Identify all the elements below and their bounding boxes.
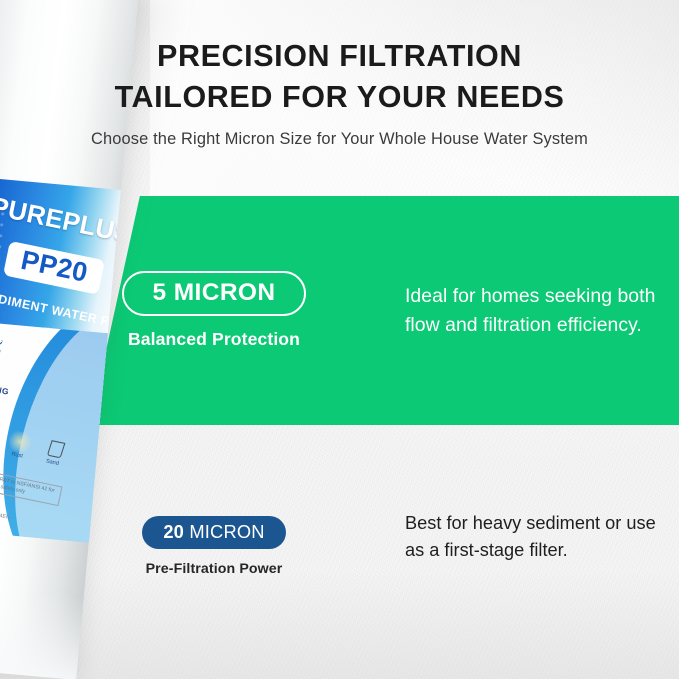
micron-5-description: Ideal for homes seeking both flow and fi…: [405, 282, 679, 339]
product-infographic: PRECISION FILTRATION TAILORED FOR YOUR N…: [0, 0, 679, 679]
page-subtitle: Choose the Right Micron Size for Your Wh…: [0, 130, 679, 149]
micron-20-description: Best for heavy sediment or use as a firs…: [405, 425, 679, 564]
model-badge: PP20: [3, 241, 105, 295]
model-name: PP20: [18, 246, 90, 289]
rust-icon: Rust: [3, 429, 36, 461]
page-title-line-1: PRECISION FILTRATION: [0, 36, 679, 77]
mesh-icon: [0, 331, 2, 374]
page-title-line-2: TAILORED FOR YOUR NEEDS: [0, 77, 679, 118]
header: PRECISION FILTRATION TAILORED FOR YOUR N…: [0, 36, 679, 149]
spec-title: MICRON RATING: [0, 372, 10, 397]
cartridge-bottom-fade: [0, 527, 89, 679]
brand-name: PUREPLUS: [0, 191, 125, 250]
micron-20-badge-unit: MICRON: [189, 521, 264, 542]
sand-icon: Sand: [38, 436, 71, 468]
